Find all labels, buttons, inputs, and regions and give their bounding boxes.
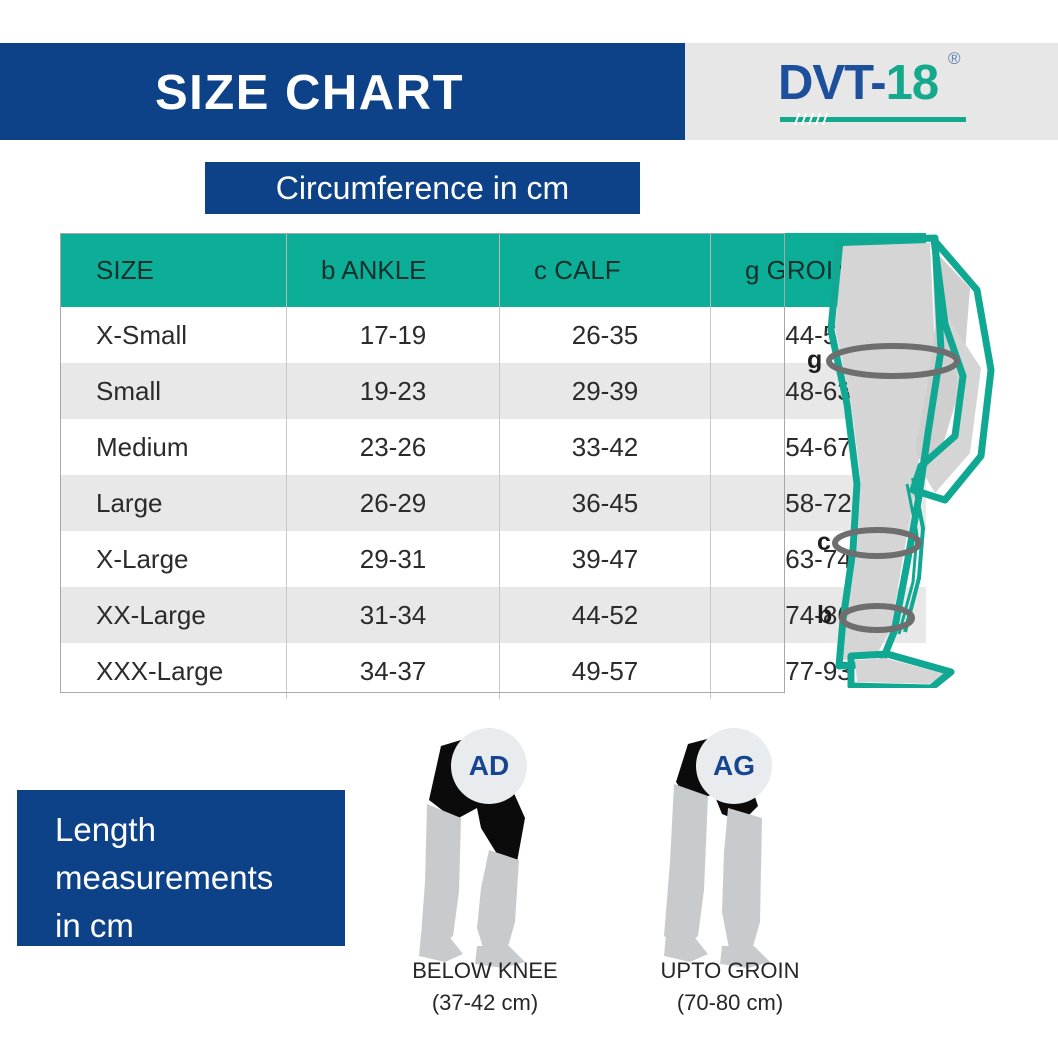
brand-logo: DVT-18 ® <box>778 55 1008 135</box>
cell-ankle: 29-31 <box>287 531 500 587</box>
caption-upto-groin: UPTO GROIN (70-80 cm) <box>600 955 860 1019</box>
badge-ag: AG <box>696 728 772 804</box>
cell-size: X-Small <box>60 307 287 363</box>
length-measurements-label: Length measurements in cm <box>55 806 325 950</box>
leg-illustration-icon <box>795 228 1050 688</box>
cell-size: X-Large <box>60 531 287 587</box>
badge-ag-label: AG <box>696 728 772 804</box>
cell-ankle: 31-34 <box>287 587 500 643</box>
cell-ankle: 17-19 <box>287 307 500 363</box>
cell-calf: 33-42 <box>500 419 711 475</box>
badge-ad: AD <box>451 728 527 804</box>
cell-size: XX-Large <box>60 587 287 643</box>
caption-upto-groin-range: (70-80 cm) <box>600 987 860 1019</box>
measure-label-calf: c <box>817 528 831 557</box>
cell-calf: 36-45 <box>500 475 711 531</box>
badge-ad-label: AD <box>451 728 527 804</box>
cell-calf: 49-57 <box>500 643 711 699</box>
logo-number-text: 18 <box>886 56 939 110</box>
cell-ankle: 26-29 <box>287 475 500 531</box>
page-title: SIZE CHART <box>155 58 655 128</box>
circumference-label-box: Circumference in cm <box>205 162 640 214</box>
cell-calf: 39-47 <box>500 531 711 587</box>
length-measurements-box: Length measurements in cm <box>17 790 345 946</box>
column-header-ankle: b ANKLE <box>287 233 500 307</box>
circumference-label-text: Circumference in cm <box>205 162 640 214</box>
cell-calf: 44-52 <box>500 587 711 643</box>
column-header-size: SIZE <box>60 233 287 307</box>
registered-trademark-icon: ® <box>948 49 961 69</box>
caption-below-knee-range: (37-42 cm) <box>355 987 615 1019</box>
cell-calf: 26-35 <box>500 307 711 363</box>
cell-ankle: 34-37 <box>287 643 500 699</box>
logo-hatch-marks <box>796 113 836 125</box>
cell-size: XXX-Large <box>60 643 287 699</box>
cell-calf: 29-39 <box>500 363 711 419</box>
cell-size: Large <box>60 475 287 531</box>
cell-size: Small <box>60 363 287 419</box>
logo-brand-text: DVT <box>778 56 870 110</box>
logo-wordmark: DVT-18 <box>778 55 938 111</box>
caption-below-knee: BELOW KNEE (37-42 cm) <box>355 955 615 1019</box>
caption-upto-groin-title: UPTO GROIN <box>600 955 860 987</box>
cell-ankle: 23-26 <box>287 419 500 475</box>
logo-dash: - <box>870 56 885 110</box>
measure-label-ankle: b <box>817 601 832 630</box>
cell-ankle: 19-23 <box>287 363 500 419</box>
leg-measurement-diagram: g c b <box>795 228 1050 688</box>
caption-below-knee-title: BELOW KNEE <box>355 955 615 987</box>
column-header-calf: c CALF <box>500 233 711 307</box>
measure-label-groin: g <box>807 346 822 375</box>
cell-size: Medium <box>60 419 287 475</box>
